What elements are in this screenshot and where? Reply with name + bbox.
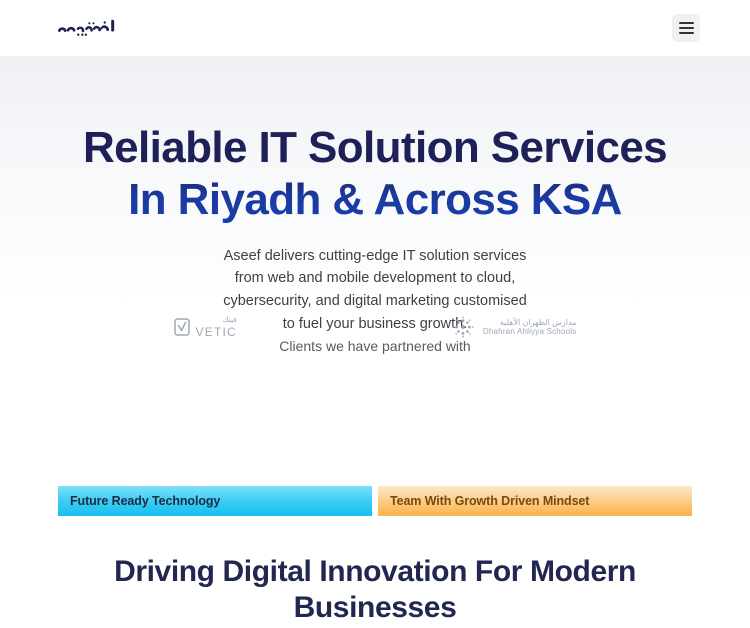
innovation-section-heading: Driving Digital Innovation For Modern Bu… bbox=[0, 554, 750, 626]
hamburger-line-3 bbox=[679, 32, 694, 34]
hero-description-line-1: Aseef delivers cutting-edge IT solution … bbox=[0, 245, 750, 268]
client-logo-vetic: فيتك VETIC bbox=[174, 316, 237, 338]
vetic-mark-icon bbox=[174, 318, 190, 336]
vetic-arabic-text: فيتك bbox=[196, 316, 237, 324]
dhahran-latin-text: Dhahran Ahliyya Schools bbox=[483, 327, 577, 336]
badge-team-with-growth-driven-mindset-label: Team With Growth Driven Mindset bbox=[390, 494, 589, 508]
feature-badges-row: Future Ready Technology Team With Growth… bbox=[58, 486, 692, 516]
vetic-latin-text: VETIC bbox=[196, 326, 237, 338]
hero-description-line-2: from web and mobile development to cloud… bbox=[0, 267, 750, 290]
site-header bbox=[0, 0, 750, 57]
hero-heading: Reliable IT Solution Services In Riyadh … bbox=[0, 122, 750, 226]
dhahran-arabic-text: مدارس الظهران الأهلية bbox=[483, 318, 577, 327]
badge-future-ready-technology[interactable]: Future Ready Technology bbox=[58, 486, 372, 516]
aseef-logo-icon bbox=[52, 15, 122, 41]
client-logo-dhahran-ahliyya-schools: مدارس الظهران الأهلية Dhahran Ahliyya Sc… bbox=[452, 316, 577, 338]
hero-heading-line-1: Reliable IT Solution Services bbox=[83, 123, 667, 172]
hero-heading-line-2: In Riyadh & Across KSA bbox=[40, 174, 710, 226]
innovation-heading-line-2: Businesses bbox=[60, 590, 690, 626]
partners-label: Clients we have partnered with bbox=[0, 335, 750, 358]
badge-team-with-growth-driven-mindset[interactable]: Team With Growth Driven Mindset bbox=[378, 486, 692, 516]
hero-description-line-3: cybersecurity, and digital marketing cus… bbox=[0, 290, 750, 313]
badge-future-ready-technology-label: Future Ready Technology bbox=[70, 494, 220, 508]
hamburger-line-2 bbox=[679, 27, 694, 29]
landing-page: Reliable IT Solution Services In Riyadh … bbox=[0, 0, 750, 628]
hamburger-menu-button[interactable] bbox=[672, 14, 700, 42]
hero-section: Reliable IT Solution Services In Riyadh … bbox=[0, 57, 750, 532]
site-logo[interactable] bbox=[52, 8, 122, 48]
dhahran-star-mandala-icon bbox=[452, 316, 474, 338]
innovation-heading-line-1: Driving Digital Innovation For Modern bbox=[114, 555, 636, 588]
hamburger-line-1 bbox=[679, 22, 694, 24]
client-logos-row: فيتك VETIC bbox=[0, 316, 750, 338]
innovation-section: Driving Digital Innovation For Modern Bu… bbox=[0, 532, 750, 628]
